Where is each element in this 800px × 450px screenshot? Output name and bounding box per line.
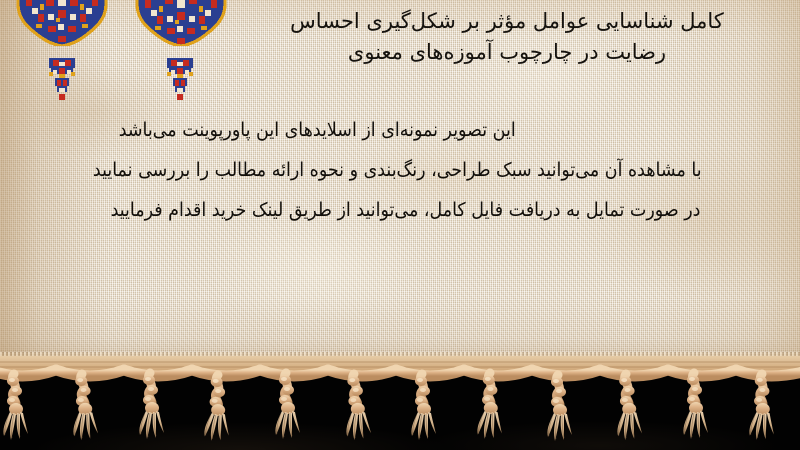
- carpet-medallion-icon: [133, 0, 229, 46]
- carpet-ornament-group: [0, 0, 245, 110]
- black-background-band: [0, 368, 800, 450]
- slide-title-line-1: کامل شناسایی عوامل مؤثر بر شکل‌گیری احسا…: [242, 6, 772, 37]
- slide-title: کامل شناسایی عوامل مؤثر بر شکل‌گیری احسا…: [242, 6, 772, 68]
- carpet-medallion-icon: [14, 0, 110, 46]
- slide-title-line-2: رضایت در چارچوب آموزه‌های معنوی: [242, 37, 772, 68]
- slide-body: این تصویر نمونه‌ای از اسلایدهای این پاور…: [0, 110, 800, 230]
- carpet-pendant-icon: [163, 56, 197, 102]
- slide-body-line-3: در صورت تمایل به دریافت فایل کامل، می‌تو…: [32, 190, 768, 230]
- slide-body-line-1: این تصویر نمونه‌ای از اسلایدهای این پاور…: [32, 110, 768, 150]
- slide-body-line-2: با مشاهده آن می‌توانید سبک طراحی، رنگ‌بن…: [32, 150, 768, 190]
- carpet-slide: کامل شناسایی عوامل مؤثر بر شکل‌گیری احسا…: [0, 0, 800, 450]
- carpet-pendant-icon: [45, 56, 79, 102]
